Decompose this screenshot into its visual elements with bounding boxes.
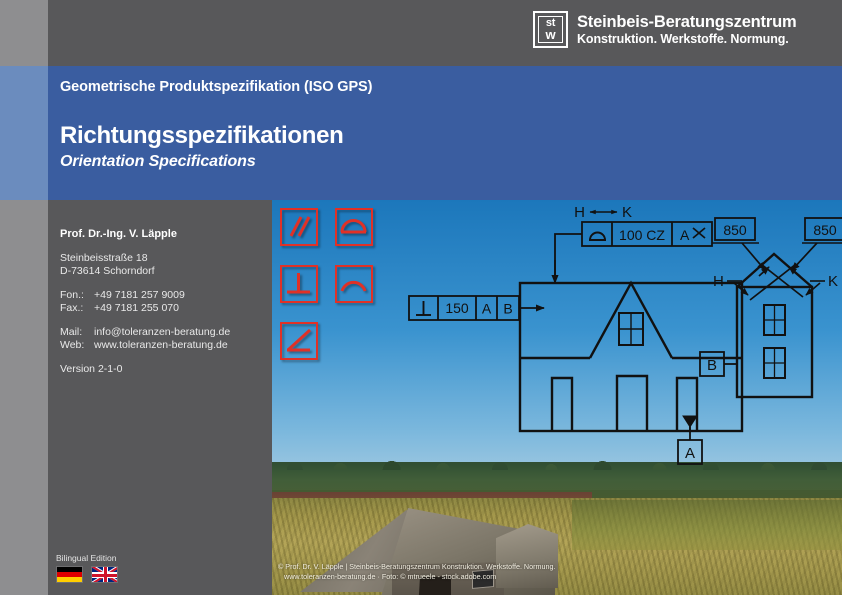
fax-label: Fax.: bbox=[60, 302, 94, 315]
address-group: Steinbeisstraße 18 D-73614 Schorndorf bbox=[60, 252, 230, 278]
side-label-right: K bbox=[828, 273, 838, 290]
brand-name: Steinbeis-Beratungszentrum bbox=[577, 13, 796, 32]
page-subtitle: Orientation Specifications bbox=[60, 153, 256, 171]
bilingual-label: Bilingual Edition bbox=[56, 553, 116, 563]
web-value[interactable]: www.toleranzen-beratung.de bbox=[94, 339, 228, 352]
photo-credit-line-1: © Prof. Dr. V. Läpple | Steinbeis-Beratu… bbox=[278, 562, 838, 572]
symbol-grid bbox=[280, 208, 390, 378]
datum-a: A bbox=[678, 416, 702, 464]
web-label: Web: bbox=[60, 339, 94, 352]
mail-row[interactable]: Mail: info@toleranzen-beratung.de bbox=[60, 326, 230, 339]
steinbeis-logo-icon: st w bbox=[533, 11, 568, 48]
frame-left-datum-2: B bbox=[503, 301, 512, 317]
datum-a-label: A bbox=[685, 445, 695, 462]
brand-logo-group: st w Steinbeis-Beratungszentrum Konstruk… bbox=[533, 11, 796, 48]
phone-label: Fon.: bbox=[60, 289, 94, 302]
cover-photo: 150 A B 100 CZ A bbox=[272, 200, 842, 595]
fax-value: +49 7181 255 070 bbox=[94, 302, 179, 315]
photo-credit-block: © Prof. Dr. V. Läpple | Steinbeis-Beratu… bbox=[278, 562, 838, 581]
uk-flag-icon bbox=[91, 566, 118, 583]
online-group: Mail: info@toleranzen-beratung.de Web: w… bbox=[60, 326, 230, 352]
dim-left-value: 850 bbox=[723, 222, 747, 238]
phone-value: +49 7181 257 9009 bbox=[94, 289, 185, 302]
lower-left-strip bbox=[0, 200, 48, 595]
feature-control-frame-perpendicularity: 150 A B bbox=[409, 296, 544, 320]
dim-right-value: 850 bbox=[813, 222, 837, 238]
datum-b: B bbox=[700, 352, 737, 376]
contact-block: Prof. Dr.-Ing. V. Läpple Steinbeisstraße… bbox=[60, 228, 230, 376]
logo-inner-box: st w bbox=[538, 16, 563, 43]
cover-page: st w Steinbeis-Beratungszentrum Konstruk… bbox=[0, 0, 842, 595]
angularity-symbol-icon bbox=[280, 322, 318, 360]
flag-group bbox=[56, 566, 118, 583]
side-label-left: H bbox=[713, 273, 724, 290]
web-row[interactable]: Web: www.toleranzen-beratung.de bbox=[60, 339, 230, 352]
profile-of-surface-symbol-icon bbox=[335, 265, 373, 303]
frame-top-tolerance: 100 CZ bbox=[619, 227, 665, 243]
mail-label: Mail: bbox=[60, 326, 94, 339]
extent-indicator-top: H K bbox=[574, 204, 632, 221]
frame-top-datum: A bbox=[680, 227, 690, 243]
address-street: Steinbeisstraße 18 bbox=[60, 252, 230, 265]
datum-b-label: B bbox=[707, 357, 717, 374]
page-title: Richtungsspezifikationen bbox=[60, 122, 344, 150]
series-kicker: Geometrische Produktspezifikation (ISO G… bbox=[60, 79, 372, 95]
photo-credit-line-2: www.toleranzen-beratung.de · Foto: © mtr… bbox=[284, 572, 838, 582]
mail-value[interactable]: info@toleranzen-beratung.de bbox=[94, 326, 230, 339]
intersection-plane-icon bbox=[693, 228, 705, 238]
phone-group: Fon.: +49 7181 257 9009 Fax.: +49 7181 2… bbox=[60, 289, 230, 315]
profile-of-line-symbol-icon bbox=[335, 208, 373, 246]
title-band-left-strip bbox=[0, 66, 48, 200]
extent-label-right-top: K bbox=[622, 204, 632, 221]
brand-tagline: Konstruktion. Werkstoffe. Normung. bbox=[577, 32, 796, 47]
frame-left-tolerance: 150 bbox=[445, 300, 469, 316]
german-flag-icon bbox=[56, 566, 83, 583]
perpendicularity-symbol-icon bbox=[280, 265, 318, 303]
brand-text: Steinbeis-Beratungszentrum Konstruktion.… bbox=[577, 13, 796, 47]
logo-w-text: w bbox=[545, 29, 555, 41]
feature-control-frame-profile: 100 CZ A bbox=[555, 222, 712, 283]
frame-left-datum-1: A bbox=[482, 301, 492, 317]
parallelism-symbol-icon bbox=[280, 208, 318, 246]
header-left-strip bbox=[0, 0, 48, 66]
fax-row: Fax.: +49 7181 255 070 bbox=[60, 302, 230, 315]
extent-label-left-top: H bbox=[574, 204, 585, 221]
phone-row: Fon.: +49 7181 257 9009 bbox=[60, 289, 230, 302]
author-name: Prof. Dr.-Ing. V. Läpple bbox=[60, 228, 230, 241]
address-city: D-73614 Schorndorf bbox=[60, 265, 230, 278]
version-text: Version 2-1-0 bbox=[60, 363, 230, 376]
